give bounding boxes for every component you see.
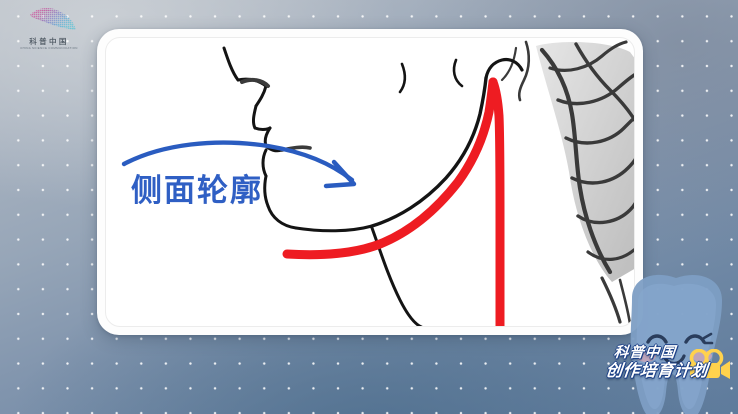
brand-logo: 科普中国 CHINA SCIENCE COMMUNICATION — [10, 4, 88, 52]
red-profile-highlight — [287, 82, 500, 327]
logo-subtitle: CHINA SCIENCE COMMUNICATION — [13, 46, 85, 50]
face-profile-lines — [224, 48, 522, 327]
video-frame: 科普中国 CHINA SCIENCE COMMUNICATION — [0, 0, 738, 414]
profile-annotation-label: 侧面轮廓 — [131, 176, 263, 207]
watermark-line-2: 创作培育计划 — [605, 357, 710, 381]
campaign-watermark: 科普中国 创作培育计划 — [604, 341, 738, 389]
kepu-china-mark-icon — [26, 4, 78, 36]
